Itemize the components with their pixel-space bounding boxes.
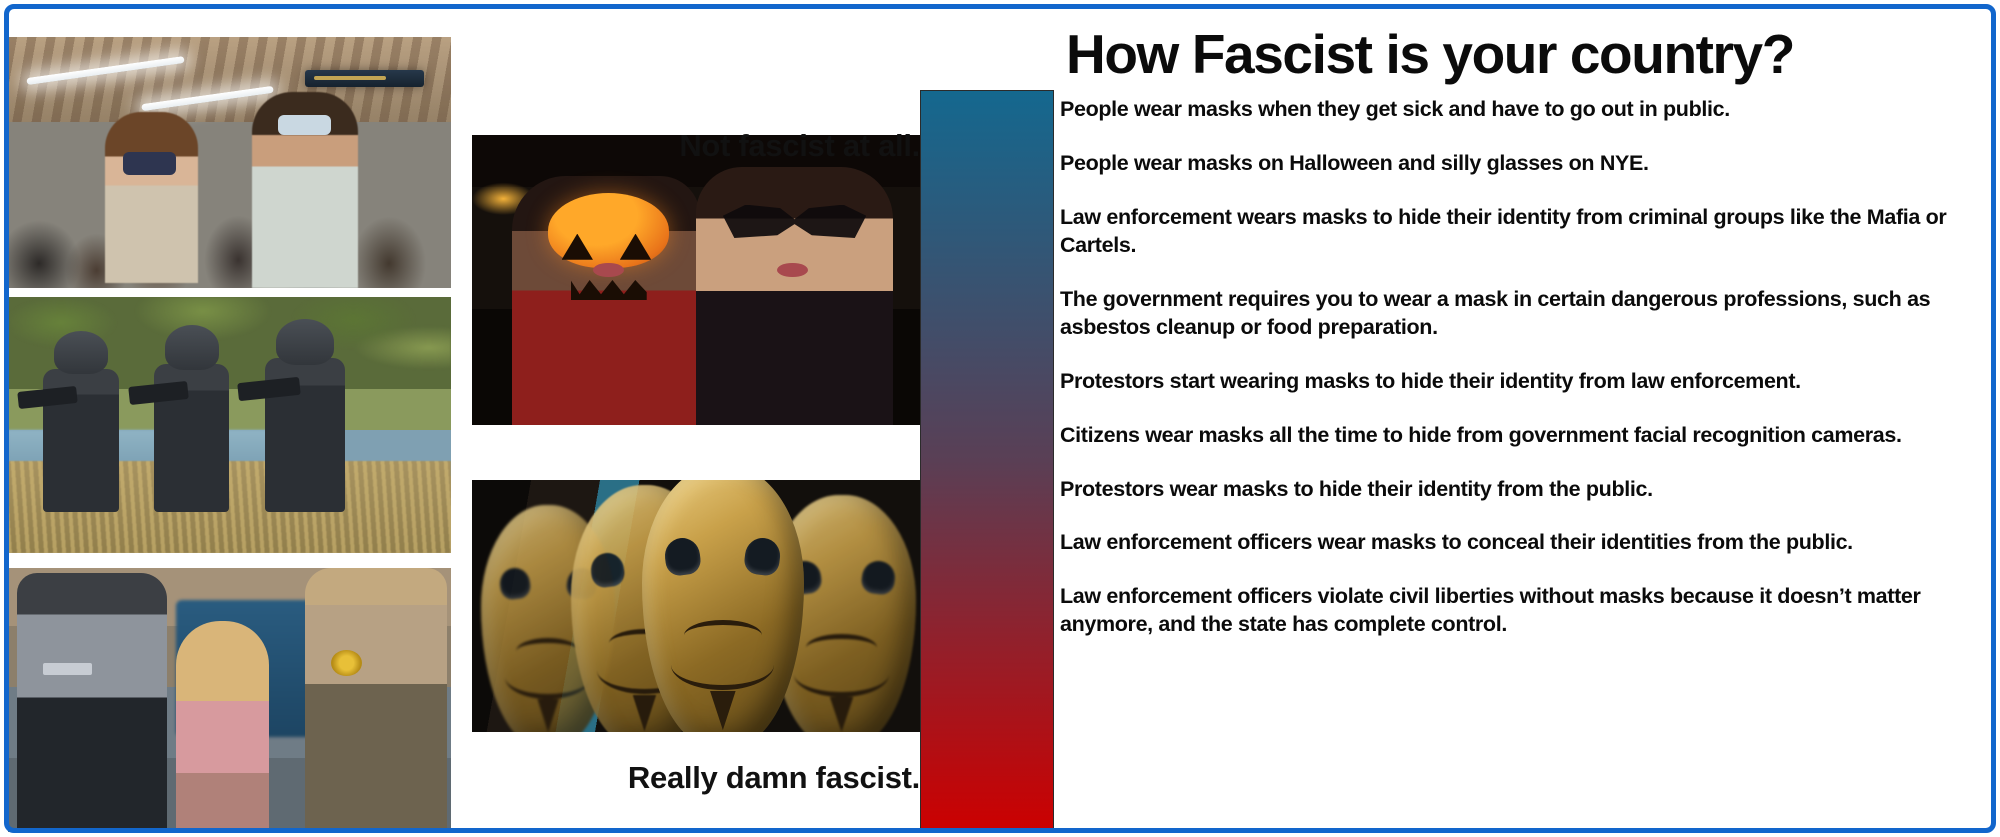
face-mask	[278, 115, 331, 135]
fascism-scale-slide: Not fascist at all. Really damn fascist.…	[0, 0, 2000, 837]
statement-item: Law enforcement wears masks to hide thei…	[1060, 204, 1990, 260]
lips	[777, 263, 808, 278]
scale-label-top: Not fascist at all.	[470, 128, 920, 164]
scale-label-bottom: Really damn fascist.	[430, 760, 920, 796]
masked-woman	[105, 112, 198, 283]
guy-fawkes-mask-icon	[642, 480, 803, 732]
person-in-silly-glasses	[696, 167, 893, 425]
officer-back-turned	[17, 573, 168, 832]
overhead-sign	[305, 70, 425, 88]
photo-guy-fawkes-masks	[472, 480, 920, 732]
statement-item: Protestors start wearing masks to hide t…	[1060, 368, 1990, 396]
photo-officers-detaining-child	[8, 568, 451, 832]
page-title: How Fascist is your country?	[880, 22, 1980, 86]
statement-item: Citizens wear masks all the time to hide…	[1060, 422, 1990, 450]
officer-with-badge	[305, 568, 447, 832]
left-photo-strip	[8, 37, 451, 832]
statement-list: People wear masks when they get sick and…	[1060, 96, 1990, 665]
crowd	[8, 112, 451, 288]
vest-patch	[43, 663, 92, 675]
detained-child	[176, 621, 269, 832]
tactical-officer	[154, 364, 229, 512]
photo-tactical-officers	[8, 297, 451, 553]
statement-item: Law enforcement officers wear masks to c…	[1060, 529, 1990, 557]
photo-halloween-costumes	[472, 135, 920, 425]
face-mask	[123, 152, 176, 175]
lips	[593, 263, 624, 278]
photo-crowded-transit-hall	[8, 37, 451, 288]
statement-item: Protestors wear masks to hide their iden…	[1060, 476, 1990, 504]
statement-item: Law enforcement officers violate civil l…	[1060, 583, 1990, 639]
statement-item: The government requires you to wear a ma…	[1060, 286, 1990, 342]
statement-item: People wear masks on Halloween and silly…	[1060, 150, 1990, 178]
tactical-officer	[43, 369, 118, 512]
statement-item: People wear masks when they get sick and…	[1060, 96, 1990, 124]
tactical-officer	[265, 358, 345, 512]
fascism-gradient-bar	[920, 90, 1054, 832]
